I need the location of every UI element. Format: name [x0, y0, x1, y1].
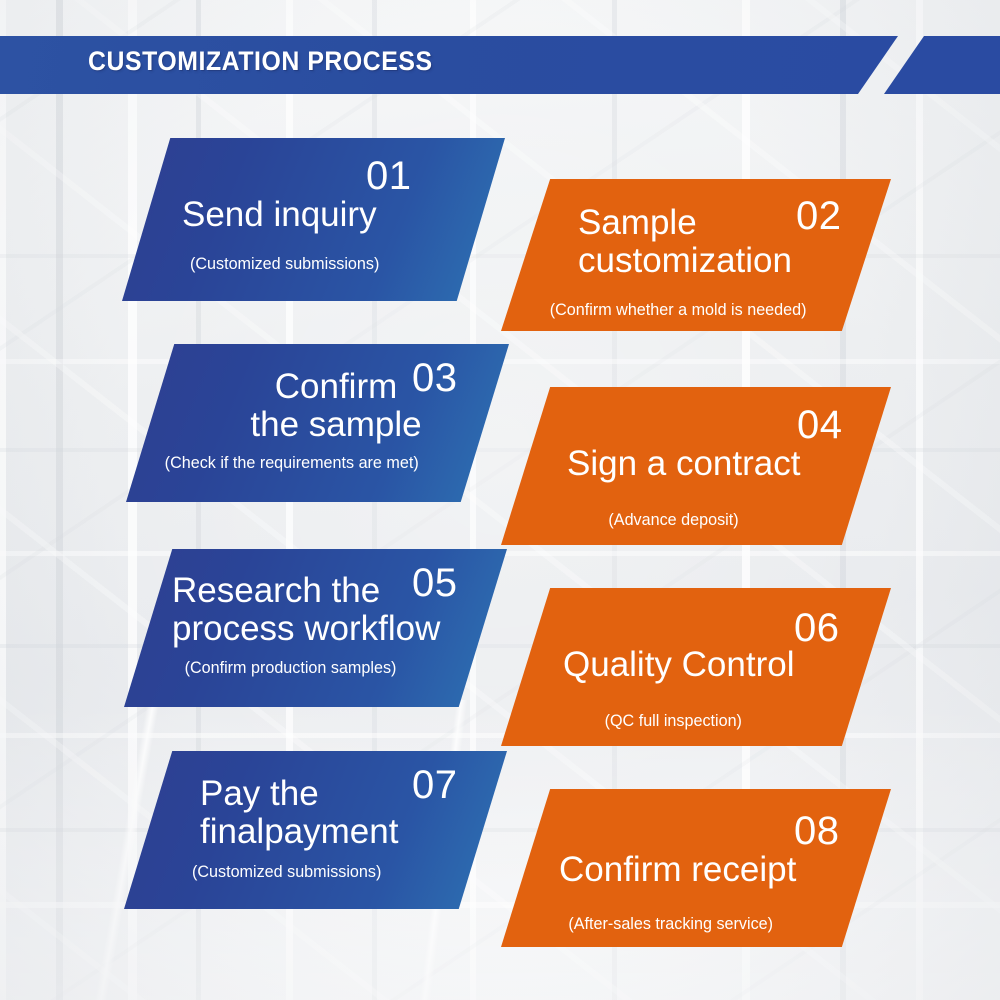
- step-card-04-content: 04 Sign a contract (Advance deposit): [501, 387, 891, 545]
- step-card-06[interactable]: 06 Quality Control (QC full inspection): [501, 588, 891, 746]
- step-title-03: Confirm the sample: [206, 368, 466, 444]
- step-subtitle-05: (Confirm production samples): [185, 659, 397, 678]
- step-number-04: 04: [797, 405, 843, 445]
- step-card-03[interactable]: 03 Confirm the sample (Check if the requ…: [126, 344, 509, 502]
- step-subtitle-08: (After-sales tracking service): [568, 915, 773, 934]
- step-card-02[interactable]: 02 Sample customization (Confirm whether…: [501, 179, 891, 331]
- step-card-01[interactable]: 01 Send inquiry (Customized submissions): [122, 138, 505, 301]
- step-card-06-content: 06 Quality Control (QC full inspection): [501, 588, 891, 746]
- step-number-01: 01: [366, 156, 412, 196]
- step-title-07: Pay the finalpayment: [200, 775, 460, 851]
- step-title-05: Research the process workflow: [172, 572, 482, 648]
- step-card-03-content: 03 Confirm the sample (Check if the requ…: [126, 344, 509, 502]
- step-card-05[interactable]: 05 Research the process workflow (Confir…: [124, 549, 507, 707]
- step-number-08: 08: [794, 811, 840, 851]
- step-subtitle-04: (Advance deposit): [608, 511, 738, 530]
- infographic-page: CUSTOMIZATION PROCESS 01 Send inquiry (C…: [0, 0, 1000, 1000]
- step-card-02-content: 02 Sample customization (Confirm whether…: [501, 179, 891, 331]
- step-card-01-content: 01 Send inquiry (Customized submissions): [122, 138, 505, 301]
- step-title-01: Send inquiry: [182, 196, 482, 234]
- step-title-06: Quality Control: [563, 646, 863, 684]
- step-number-06: 06: [794, 608, 840, 648]
- step-title-04: Sign a contract: [567, 445, 867, 483]
- step-card-07-content: 07 Pay the finalpayment (Customized subm…: [124, 751, 507, 909]
- step-subtitle-02: (Confirm whether a mold is needed): [550, 301, 807, 320]
- step-card-07[interactable]: 07 Pay the finalpayment (Customized subm…: [124, 751, 507, 909]
- step-card-05-content: 05 Research the process workflow (Confir…: [124, 549, 507, 707]
- step-subtitle-01: (Customized submissions): [190, 255, 379, 274]
- step-subtitle-07: (Customized submissions): [192, 863, 381, 882]
- step-card-04[interactable]: 04 Sign a contract (Advance deposit): [501, 387, 891, 545]
- page-title: CUSTOMIZATION PROCESS: [88, 46, 433, 77]
- step-title-02: Sample customization: [578, 204, 868, 280]
- step-subtitle-03: (Check if the requirements are met): [165, 454, 419, 473]
- step-card-08-content: 08 Confirm receipt (After-sales tracking…: [501, 789, 891, 947]
- step-title-08: Confirm receipt: [559, 851, 859, 889]
- step-card-08[interactable]: 08 Confirm receipt (After-sales tracking…: [501, 789, 891, 947]
- step-subtitle-06: (QC full inspection): [605, 712, 742, 731]
